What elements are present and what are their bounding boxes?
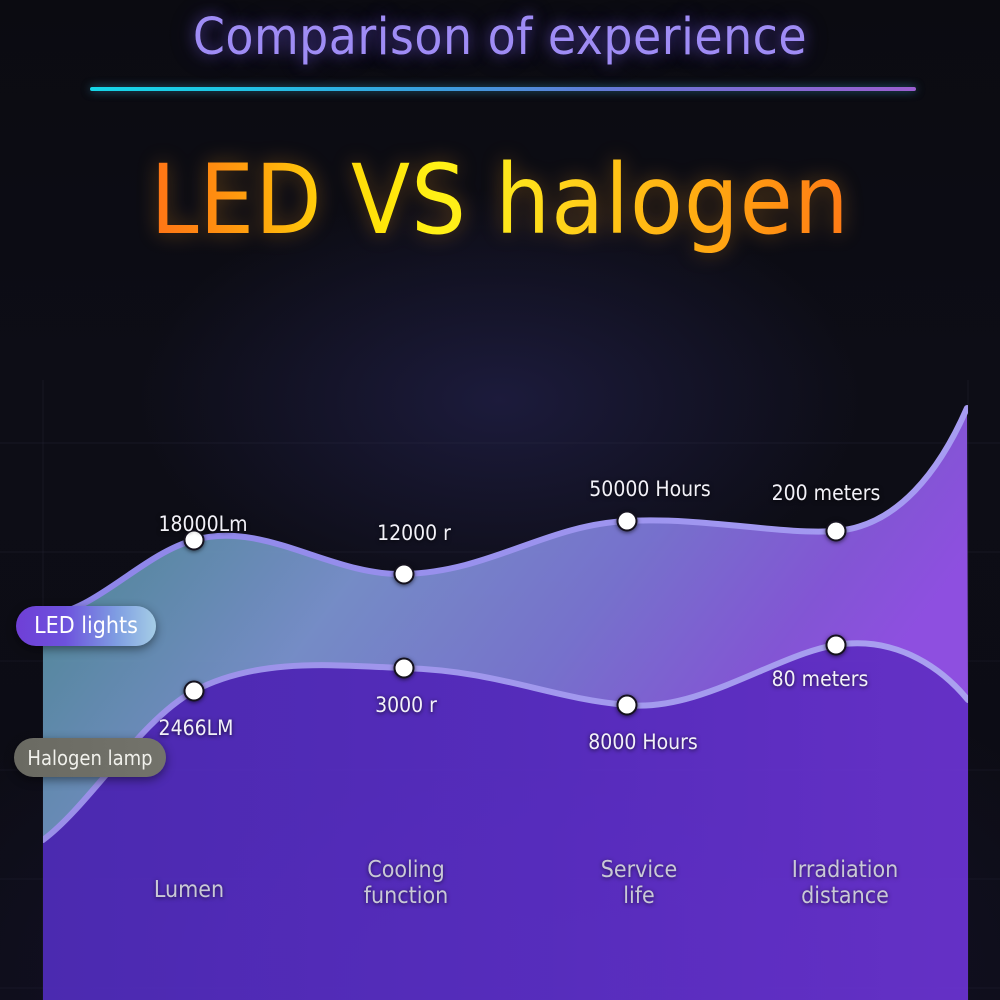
comparison-chart: 18000Lm 12000 r 50000 Hours 200 meters 2… <box>0 380 1000 1000</box>
halogen-point-4[interactable] <box>826 635 847 656</box>
halogen-value-label-2: 3000 r <box>375 693 437 717</box>
halogen-point-2[interactable] <box>394 658 415 679</box>
hero-heading: LED VS halogen <box>0 150 1000 251</box>
infographic-stage: Comparison of experience LED VS halogen <box>0 0 1000 1000</box>
led-point-4[interactable] <box>826 521 847 542</box>
halogen-point-1[interactable] <box>184 681 205 702</box>
axis-label-cooling-function: Cooling function <box>364 858 449 910</box>
led-point-2[interactable] <box>394 564 415 585</box>
halogen-point-3[interactable] <box>617 695 638 716</box>
axis-label-irradiation-distance: Irradiation distance <box>792 858 899 910</box>
led-value-label-3: 50000 Hours <box>589 477 710 501</box>
legend-pill-halogen-lamp[interactable]: Halogen lamp <box>14 738 166 777</box>
axis-label-lumen: Lumen <box>154 878 224 904</box>
hero-heading-text: LED VS halogen <box>150 144 849 256</box>
led-value-label-4: 200 meters <box>772 481 881 505</box>
led-value-label-2: 12000 r <box>377 521 451 545</box>
halogen-value-label-3: 8000 Hours <box>588 730 697 754</box>
led-value-label-1: 18000Lm <box>158 512 247 536</box>
axis-label-service-life: Service life <box>601 858 677 910</box>
halogen-value-label-4: 80 meters <box>772 667 869 691</box>
header: Comparison of experience <box>0 0 1000 120</box>
page-title: Comparison of experience <box>0 8 1000 67</box>
title-underline-rule <box>90 87 916 91</box>
legend-pill-led-lights[interactable]: LED lights <box>16 606 156 646</box>
led-point-3[interactable] <box>617 511 638 532</box>
halogen-value-label-1: 2466LM <box>159 716 234 740</box>
